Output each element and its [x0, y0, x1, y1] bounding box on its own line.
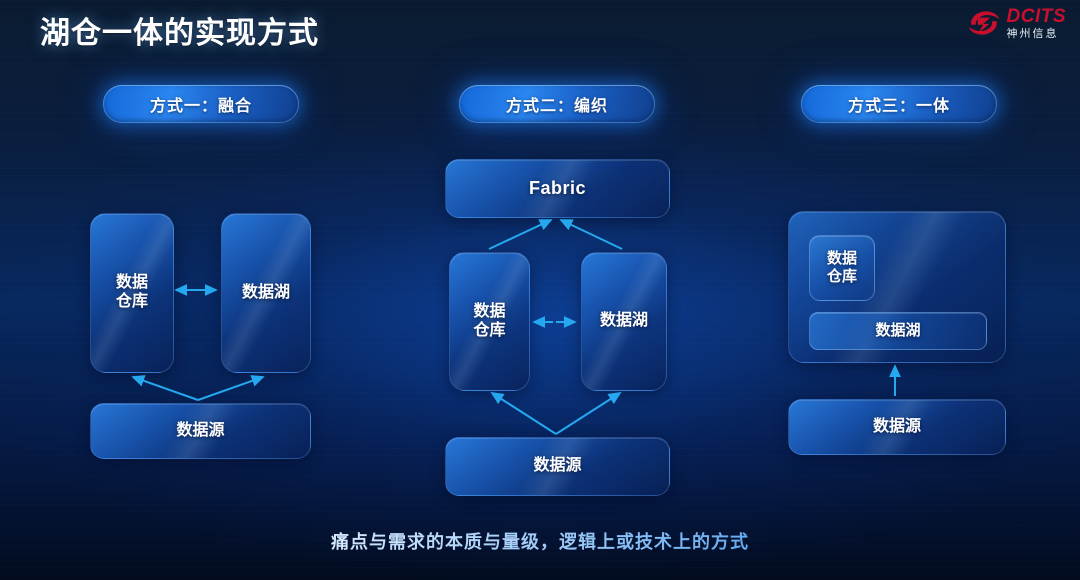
page-title: 湖仓一体的实现方式 [40, 8, 319, 52]
c2-node-source-label: 数据源 [533, 457, 581, 476]
c2-node-lake[interactable]: 数据湖 [581, 252, 667, 391]
c2-node-warehouse[interactable]: 数据 仓库 [449, 252, 530, 391]
c2-node-fabric[interactable]: Fabric [445, 159, 670, 218]
c3-node-warehouse-label: 数据 仓库 [827, 250, 857, 285]
logo-cn-text: 神州信息 [1007, 29, 1067, 40]
c1-node-lake-label: 数据湖 [242, 284, 290, 303]
c1-node-warehouse-label: 数据 仓库 [116, 274, 148, 312]
c2-node-source[interactable]: 数据源 [445, 437, 670, 496]
c2-node-fabric-label: Fabric [529, 178, 586, 199]
approach-pill-1[interactable]: 方式一：融合 [103, 85, 299, 123]
c2-node-warehouse-label: 数据 仓库 [473, 303, 505, 341]
c1-node-lake[interactable]: 数据湖 [221, 213, 311, 373]
arrow-c2-source-warehouse [492, 393, 556, 434]
arrow-c1-source-warehouse [133, 377, 198, 400]
c3-node-source[interactable]: 数据源 [788, 399, 1006, 455]
approach-pill-1-label: 方式一：融合 [150, 92, 252, 116]
c2-node-lake-label: 数据湖 [600, 312, 648, 331]
footer-caption: 痛点与需求的本质与量级，逻辑上或技术上的方式 [0, 528, 1080, 554]
dcits-swoosh-logo-icon [966, 6, 1002, 40]
approach-pill-3[interactable]: 方式三：一体 [801, 85, 997, 123]
approach-pill-2-label: 方式二：编织 [506, 92, 608, 116]
c1-node-source-label: 数据源 [176, 422, 224, 441]
brand-logo: DCITS 神州信息 [966, 6, 1067, 40]
c3-node-lake[interactable]: 数据湖 [809, 312, 987, 350]
approach-pill-3-label: 方式三：一体 [848, 92, 950, 116]
c1-node-source[interactable]: 数据源 [90, 403, 311, 459]
arrow-c2-source-lake [556, 393, 620, 434]
arrow-c1-source-lake [198, 377, 263, 400]
logo-en-text: DCITS [1007, 7, 1067, 26]
arrow-c2-warehouse-fabric [489, 220, 551, 249]
c1-node-warehouse[interactable]: 数据 仓库 [90, 213, 174, 373]
c3-node-lakehouse-container[interactable]: 数据 仓库 数据湖 [788, 211, 1006, 363]
approach-pill-2[interactable]: 方式二：编织 [459, 85, 655, 123]
slide-canvas: 湖仓一体的实现方式 DCITS 神州信息 方式一：融合 方式二：编织 方式三：一… [0, 0, 1080, 580]
c3-node-warehouse[interactable]: 数据 仓库 [809, 235, 875, 301]
arrow-c2-lake-fabric [561, 220, 622, 249]
c3-node-source-label: 数据源 [873, 418, 921, 437]
c3-node-lake-label: 数据湖 [875, 322, 920, 340]
